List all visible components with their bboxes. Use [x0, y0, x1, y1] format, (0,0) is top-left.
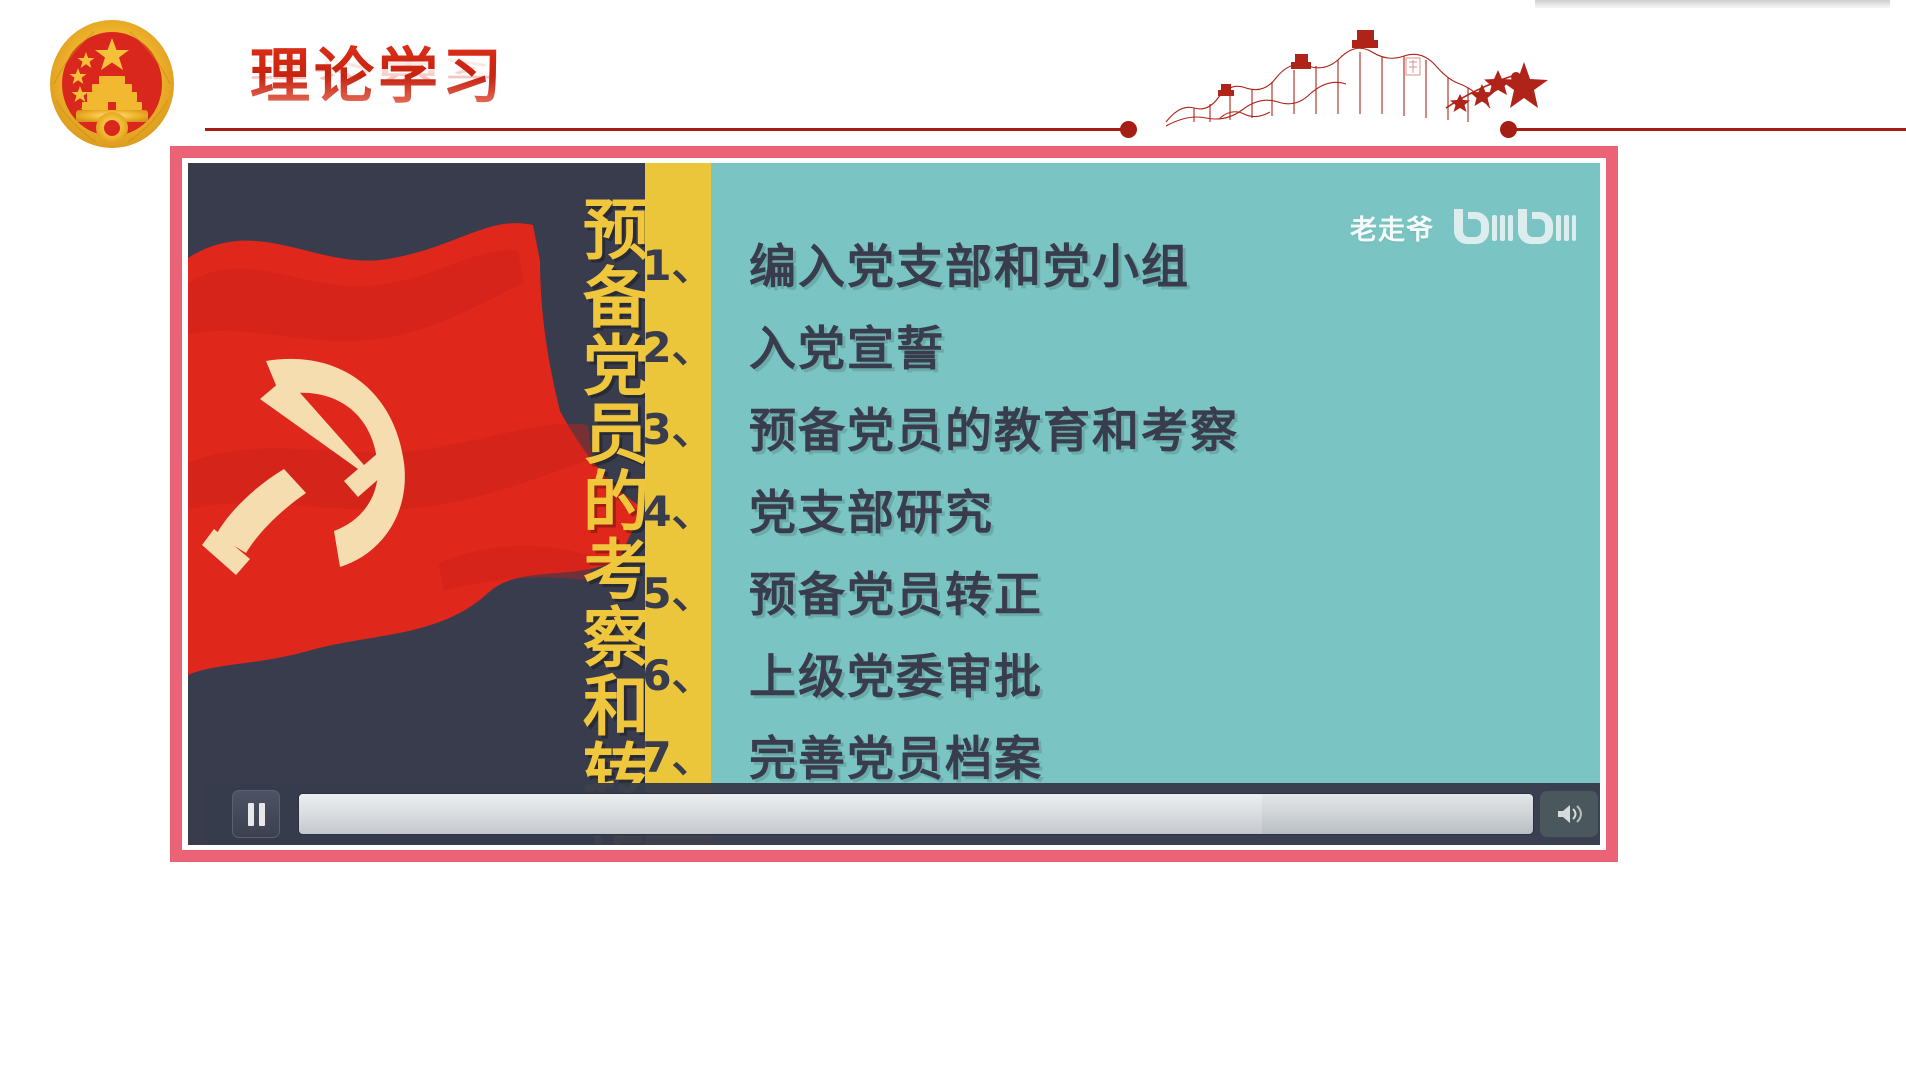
list-item: 2、入党宣誓	[711, 305, 1600, 383]
list-item-label: 入党宣誓	[749, 310, 945, 379]
slide-left-panel: 预备党员的考察和转正	[188, 163, 645, 845]
china-national-emblem-icon	[42, 14, 182, 154]
list-item: 1、编入党支部和党小组	[711, 223, 1600, 301]
list-item: 3、预备党员的教育和考察	[711, 387, 1600, 465]
list-item-number: 2、	[645, 305, 711, 383]
list-item-number: 7、	[645, 715, 711, 793]
list-item: 7、完善党员档案	[711, 715, 1600, 793]
pause-icon[interactable]	[232, 790, 280, 838]
slide-content-panel: 老走爷	[711, 163, 1600, 845]
list-item-number: 1、	[645, 223, 711, 301]
slide-item-list: 1、编入党支部和党小组2、入党宣誓3、预备党员的教育和考察4、党支部研究5、预备…	[711, 163, 1600, 845]
list-item-label: 预备党员的教育和考察	[749, 392, 1239, 461]
header-rule-dot-left	[1120, 121, 1137, 138]
header-rule-right	[1507, 128, 1906, 131]
list-item-number: 4、	[645, 469, 711, 547]
slide-vertical-title: 预备党员的考察和转正	[550, 195, 642, 845]
player-control-bar[interactable]	[206, 783, 1600, 845]
list-item-label: 完善党员档案	[749, 720, 1043, 789]
volume-speaker-icon[interactable]	[1540, 791, 1598, 837]
page-title: 理论学习	[250, 28, 506, 115]
progress-played	[299, 794, 1262, 834]
list-item: 4、党支部研究	[711, 469, 1600, 547]
list-item-label: 党支部研究	[749, 474, 994, 543]
video-stage[interactable]: 预备党员的考察和转正 老走爷	[188, 163, 1600, 845]
list-item-label: 编入党支部和党小组	[749, 228, 1190, 297]
list-item-number: 5、	[645, 551, 711, 629]
list-item-number: 3、	[645, 387, 711, 465]
header-rule-left	[205, 128, 1130, 131]
list-item: 5、预备党员转正	[711, 551, 1600, 629]
list-item: 6、上级党委审批	[711, 633, 1600, 711]
list-item-label: 预备党员转正	[749, 556, 1043, 625]
page-header: 理论学习 理论学习	[0, 0, 1906, 145]
list-item-label: 上级党委审批	[749, 638, 1043, 707]
list-item-number: 6、	[645, 633, 711, 711]
red-stars-icon	[1450, 62, 1548, 112]
progress-bar[interactable]	[298, 793, 1534, 835]
great-wall-illustration-icon	[1160, 22, 1550, 132]
video-player-frame: 预备党员的考察和转正 老走爷	[170, 146, 1618, 862]
